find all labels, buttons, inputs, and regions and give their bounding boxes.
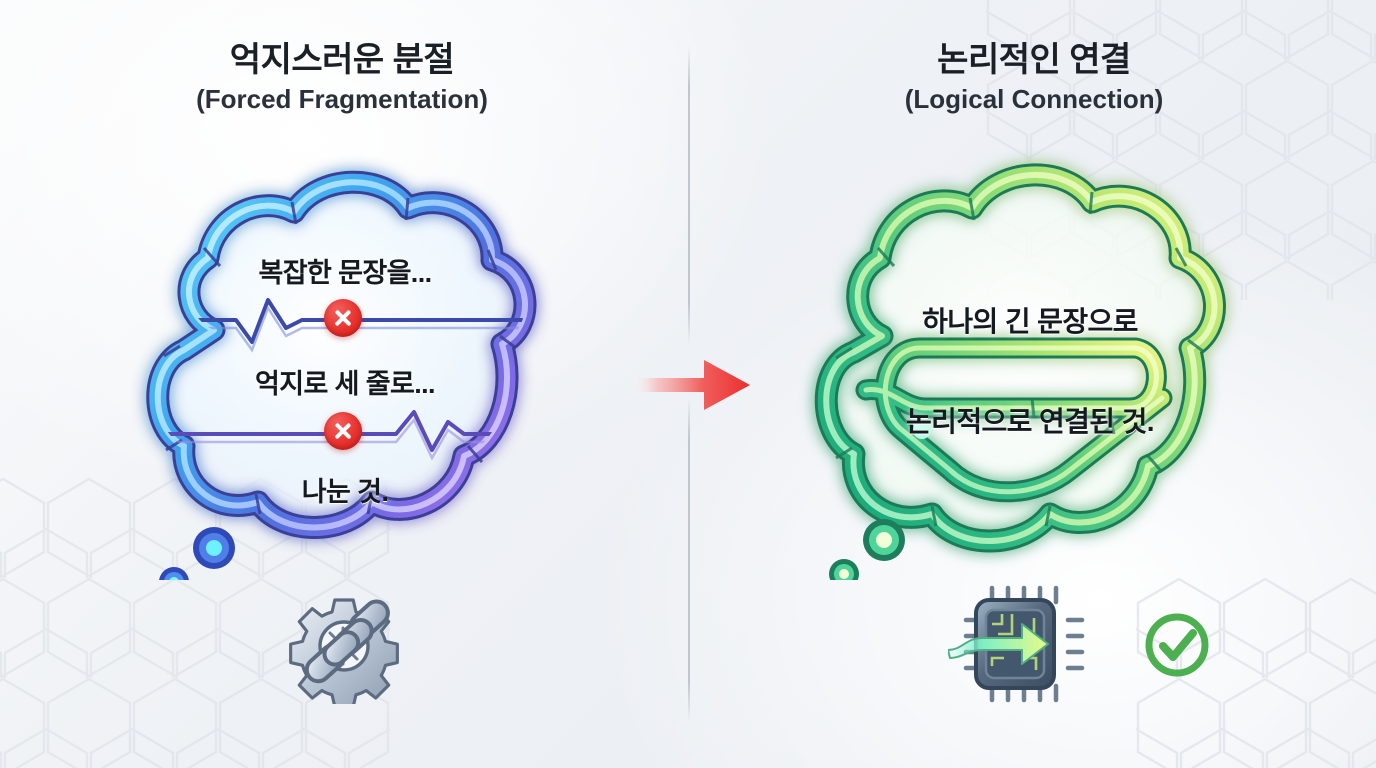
right-thought-cloud [770,140,1290,580]
right-cloud-line-1: 하나의 긴 문장으로 [855,300,1205,340]
right-title-korean: 논리적인 연결 [754,40,1314,81]
left-title-korean: 억지스러운 분절 [62,40,622,81]
left-title-english: (Forced Fragmentation) [62,83,622,117]
left-panel-title: 억지스러운 분절 (Forced Fragmentation) [62,40,622,117]
chip-flow-icon [948,578,1088,710]
check-circle-icon [1140,608,1214,682]
x-mark-icon-1 [324,299,362,337]
broken-chain-gear-icon [288,588,412,704]
infographic-canvas: 억지스러운 분절 (Forced Fragmentation) 논리적인 연결 … [0,0,1376,768]
left-cloud-line-1: 복잡한 문장을... [180,251,510,290]
left-cloud-line-3: 나눈 것. [180,470,510,509]
x-mark-icon-2 [324,412,362,450]
left-cloud-line-2: 억지로 세 줄로... [180,362,510,401]
left-thought-dots [159,527,235,580]
right-thought-dots [829,519,905,580]
right-cloud-line-2: 논리적으로 연결된 것. [855,400,1205,440]
right-title-english: (Logical Connection) [754,83,1314,117]
right-arrow-icon [626,350,756,420]
right-panel-title: 논리적인 연결 (Logical Connection) [754,40,1314,117]
